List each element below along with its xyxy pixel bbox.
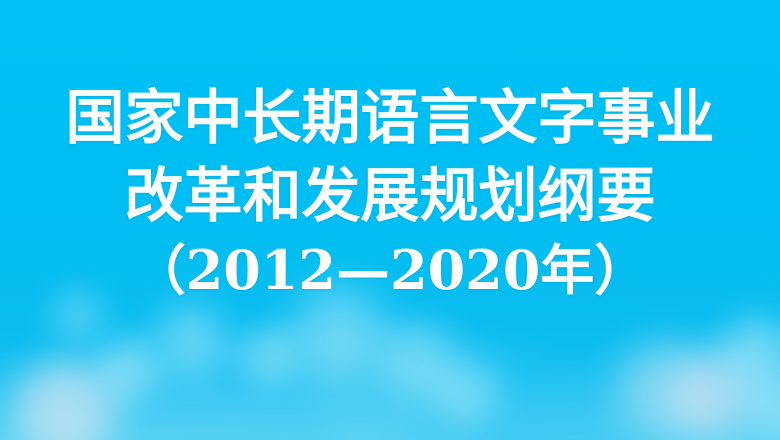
poster-banner: 国家中长期语言文字事业 改革和发展规划纲要 （2012—2020年）	[0, 0, 780, 440]
title-line-2: 改革和发展规划纲要	[0, 166, 780, 225]
title-line-3-period: （2012—2020年）	[0, 243, 780, 297]
background-bokeh-glow	[0, 282, 780, 440]
title-line-1: 国家中长期语言文字事业	[0, 88, 780, 147]
poster-title-block: 国家中长期语言文字事业 改革和发展规划纲要 （2012—2020年）	[0, 88, 780, 297]
